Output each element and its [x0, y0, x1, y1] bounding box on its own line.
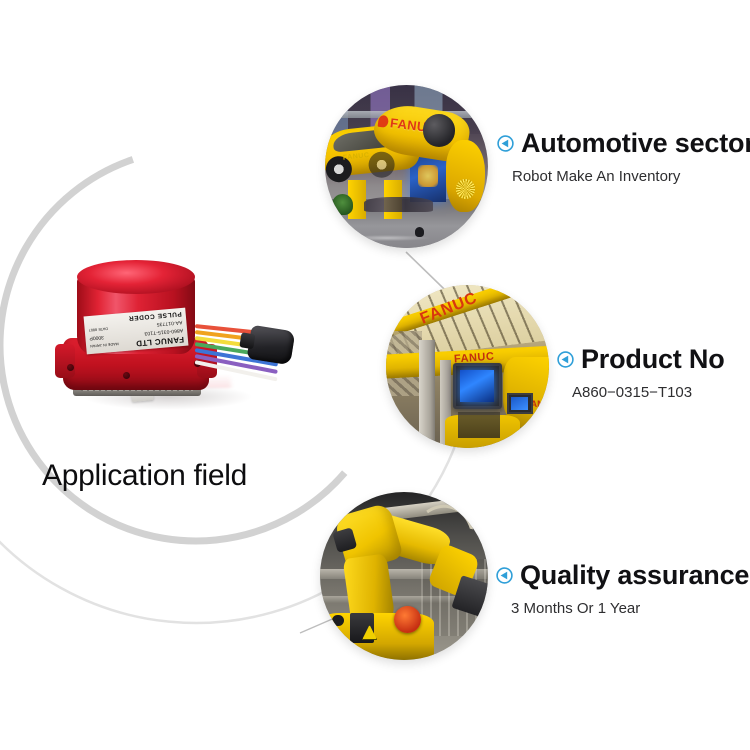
info-title: Quality assurance	[520, 562, 749, 589]
flange-hole	[67, 364, 74, 371]
flange-hole	[123, 372, 130, 379]
robot-wrist	[446, 140, 485, 212]
info-heading-row: Automotive sector	[497, 130, 750, 157]
support-column	[419, 340, 435, 448]
gantry-scene: FANUC FANUC FANUC	[386, 285, 549, 448]
car-wheel	[367, 151, 396, 180]
info-subtitle: 3 Months Or 1 Year	[511, 601, 749, 616]
photo-bubble-quality	[320, 492, 488, 660]
product-photo-pulse-coder: FANUC LTD MADE IN JAPAN A860-0315-T103 3…	[55, 258, 300, 433]
play-left-circle-icon	[557, 351, 574, 368]
shadowed-area	[458, 412, 500, 438]
photo-bubble-product: FANUC FANUC FANUC	[386, 285, 549, 448]
play-left-circle-icon	[497, 135, 514, 152]
potted-plant	[332, 194, 353, 215]
label-pulses: 3000P	[89, 334, 104, 341]
secondary-monitor	[507, 393, 533, 414]
label-date: DATE 8807	[89, 326, 108, 332]
info-subtitle: A860−0315−T103	[572, 385, 725, 400]
car-brand-text: FANUC	[343, 152, 370, 162]
floor-cone	[415, 227, 425, 237]
product-wire-harness	[195, 322, 287, 366]
automotive-scene: FANUC FANUC	[325, 85, 488, 248]
info-heading-row: Quality assurance	[496, 562, 749, 589]
play-left-circle-icon	[496, 567, 513, 584]
robot-elbow-joint	[423, 114, 456, 147]
label-brand: FANUC LTD	[135, 335, 184, 348]
label-serial: AA-017735	[156, 319, 182, 327]
info-title: Automotive sector	[521, 130, 750, 157]
control-monitor-blue	[453, 363, 502, 409]
info-subtitle: Robot Make An Inventory	[512, 169, 750, 184]
page-title: Application field	[42, 459, 247, 493]
factory-scene	[320, 492, 488, 660]
crowd-silhouette	[364, 197, 432, 212]
emergency-stop-button	[394, 606, 421, 633]
product-cable-connector	[247, 325, 296, 365]
info-title: Product No	[581, 346, 725, 373]
photo-bubble-automotive: FANUC FANUC	[325, 85, 488, 248]
robot-indicator-dot	[463, 191, 469, 197]
flange-ear-left	[55, 344, 75, 378]
info-block-quality: Quality assurance 3 Months Or 1 Year	[496, 562, 749, 616]
info-block-automotive: Automotive sector Robot Make An Inventor…	[497, 130, 750, 184]
base-bolt	[332, 615, 344, 627]
info-heading-row: Product No	[557, 346, 725, 373]
label-made-in: MADE IN JAPAN	[90, 342, 119, 348]
product-top-cap	[77, 260, 195, 294]
robot-motor-block	[333, 527, 358, 553]
info-block-product: Product No A860−0315−T103	[557, 346, 725, 400]
application-field-infographic: FANUC LTD MADE IN JAPAN A860-0315-T103 3…	[0, 0, 750, 750]
